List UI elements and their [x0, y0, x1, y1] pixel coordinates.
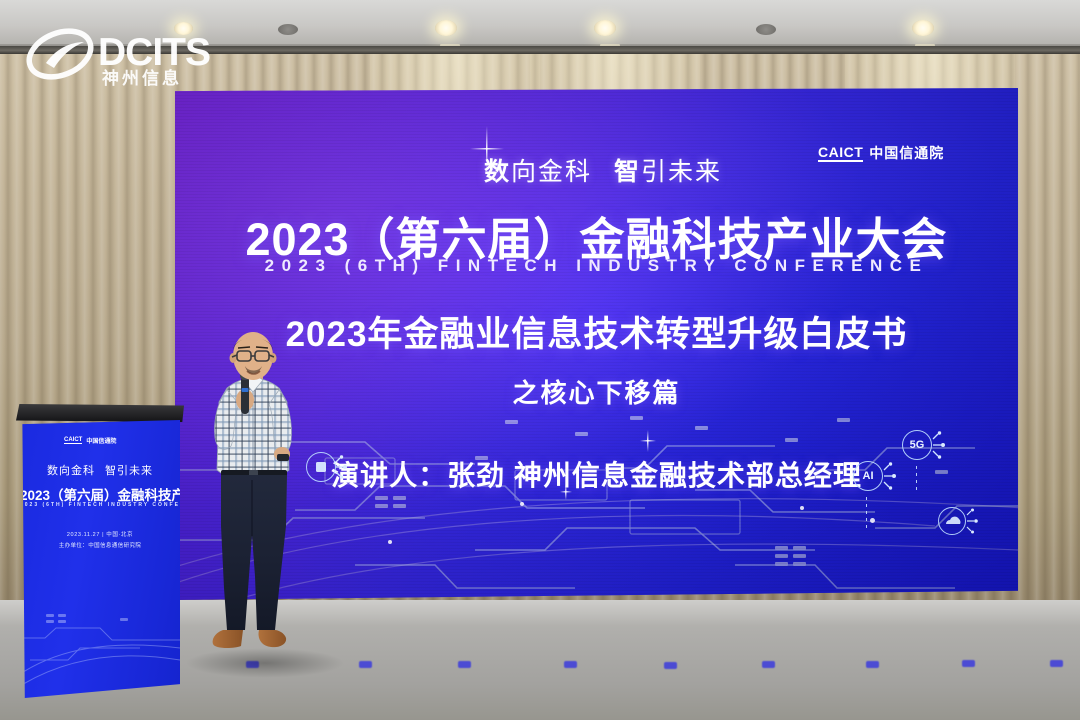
floor-screen-reflection [664, 662, 677, 669]
podium-conference-title-en: 2023 (6TH) FINTECH INDUSTRY CONFERENCE [20, 502, 180, 508]
ceiling-downlight [756, 24, 776, 35]
svg-text:神州信息: 神州信息 [102, 68, 182, 88]
tagline-part1-strong: 数 [484, 158, 511, 186]
5g-badge-label: 5G [902, 430, 932, 460]
podium-tagline-part2: 智引未来 [105, 465, 153, 477]
cloud-badge-icon [936, 502, 982, 542]
tagline-part1-light: 向金科 [511, 158, 592, 186]
speaker-person [183, 330, 333, 665]
podium-tagline: 数向金科智引未来 [20, 462, 180, 478]
podium-circuit-decoration [20, 578, 180, 698]
dcits-watermark-logo: DCITS 神州信息 [18, 18, 248, 88]
podium-caict-mark: CAICT [64, 437, 82, 444]
conference-tagline: 数向金科智引未来 [484, 152, 784, 188]
podium-conference-title-cn: 2023（第六届）金融科技产业大会 [20, 484, 180, 504]
conference-stage-photo: DCITS 神州信息 [0, 0, 1080, 720]
floor-screen-reflection [866, 661, 879, 668]
5g-badge-icon: 5G [900, 424, 948, 466]
floor-screen-reflection [564, 661, 577, 668]
ai-badge-stem [866, 497, 868, 531]
podium-date-location: 2023.11.27 | 中国·北京 [20, 530, 180, 538]
ceiling-spotlight [594, 20, 616, 36]
floor-screen-reflection [762, 661, 775, 668]
tagline-part2-strong: 智 [614, 158, 641, 186]
podium-caict-logo: CAICT 中国信通院 [64, 436, 116, 445]
ai-badge-icon: AI [851, 455, 899, 497]
caict-logo: CAICT 中国信通院 [818, 143, 944, 163]
ceiling-downlight [278, 24, 298, 35]
svg-text:DCITS: DCITS [98, 31, 210, 74]
ceiling-spotlight [912, 20, 934, 36]
caict-name-cn: 中国信通院 [869, 143, 944, 163]
floor-screen-reflection [359, 661, 372, 668]
floor-screen-reflection [962, 660, 975, 667]
floor-screen-reflection [1050, 660, 1063, 667]
podium-tagline-part1: 数向金科 [47, 465, 95, 477]
caict-mark-text: CAICT [818, 144, 863, 162]
5g-badge-stem [916, 466, 918, 492]
podium-led-panel: CAICT 中国信通院 数向金科智引未来 2023（第六届）金融科技产业大会 2… [20, 420, 180, 698]
ceiling-spotlight [435, 20, 457, 36]
ai-badge-label: AI [853, 461, 883, 491]
podium-caict-name-cn: 中国信通院 [86, 436, 116, 445]
tagline-part2-light: 引未来 [641, 158, 722, 186]
podium-top-surface [16, 404, 184, 422]
podium-host-line: 主办单位：中国信息通信研究院 [20, 541, 180, 549]
conference-title-en: 2023 (6TH) FINTECH INDUSTRY CONFERENCE [175, 256, 1018, 276]
floor-screen-reflection [458, 661, 471, 668]
